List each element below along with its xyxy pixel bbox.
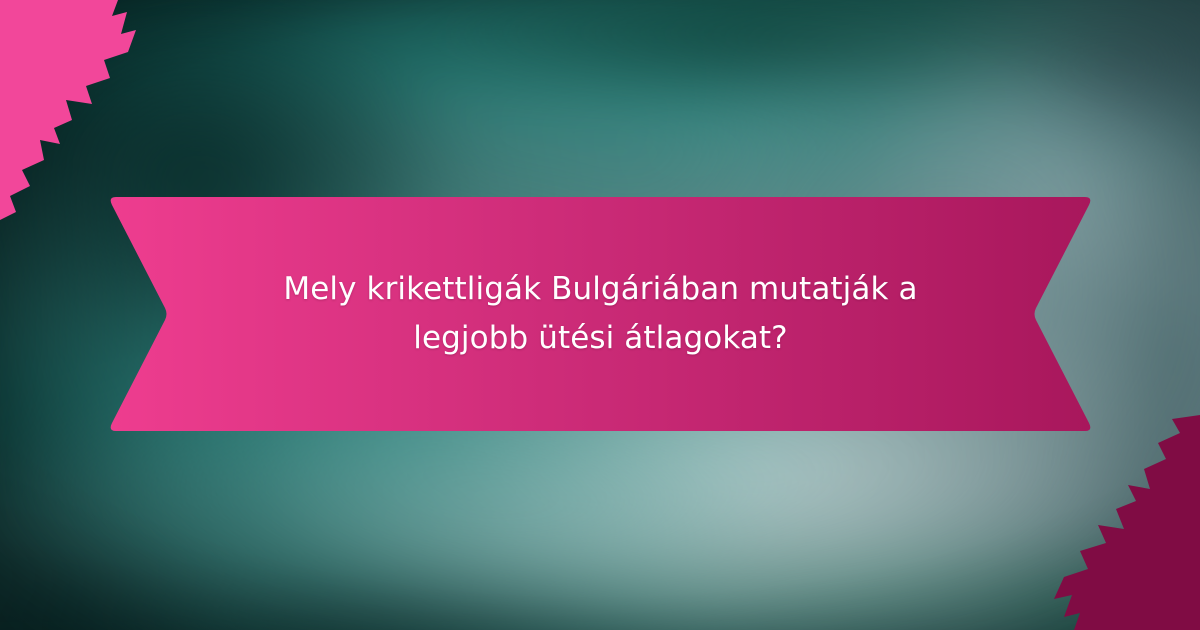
social-share-card: Mely krikettligák Bulgáriában mutatják a… <box>0 0 1200 630</box>
headline-line-2: legjobb ütési átlagokat? <box>413 314 787 363</box>
headline-line-1: Mely krikettligák Bulgáriában mutatják a <box>283 265 917 314</box>
ribbon-headline: Mely krikettligák Bulgáriában mutatják a… <box>108 195 1093 433</box>
